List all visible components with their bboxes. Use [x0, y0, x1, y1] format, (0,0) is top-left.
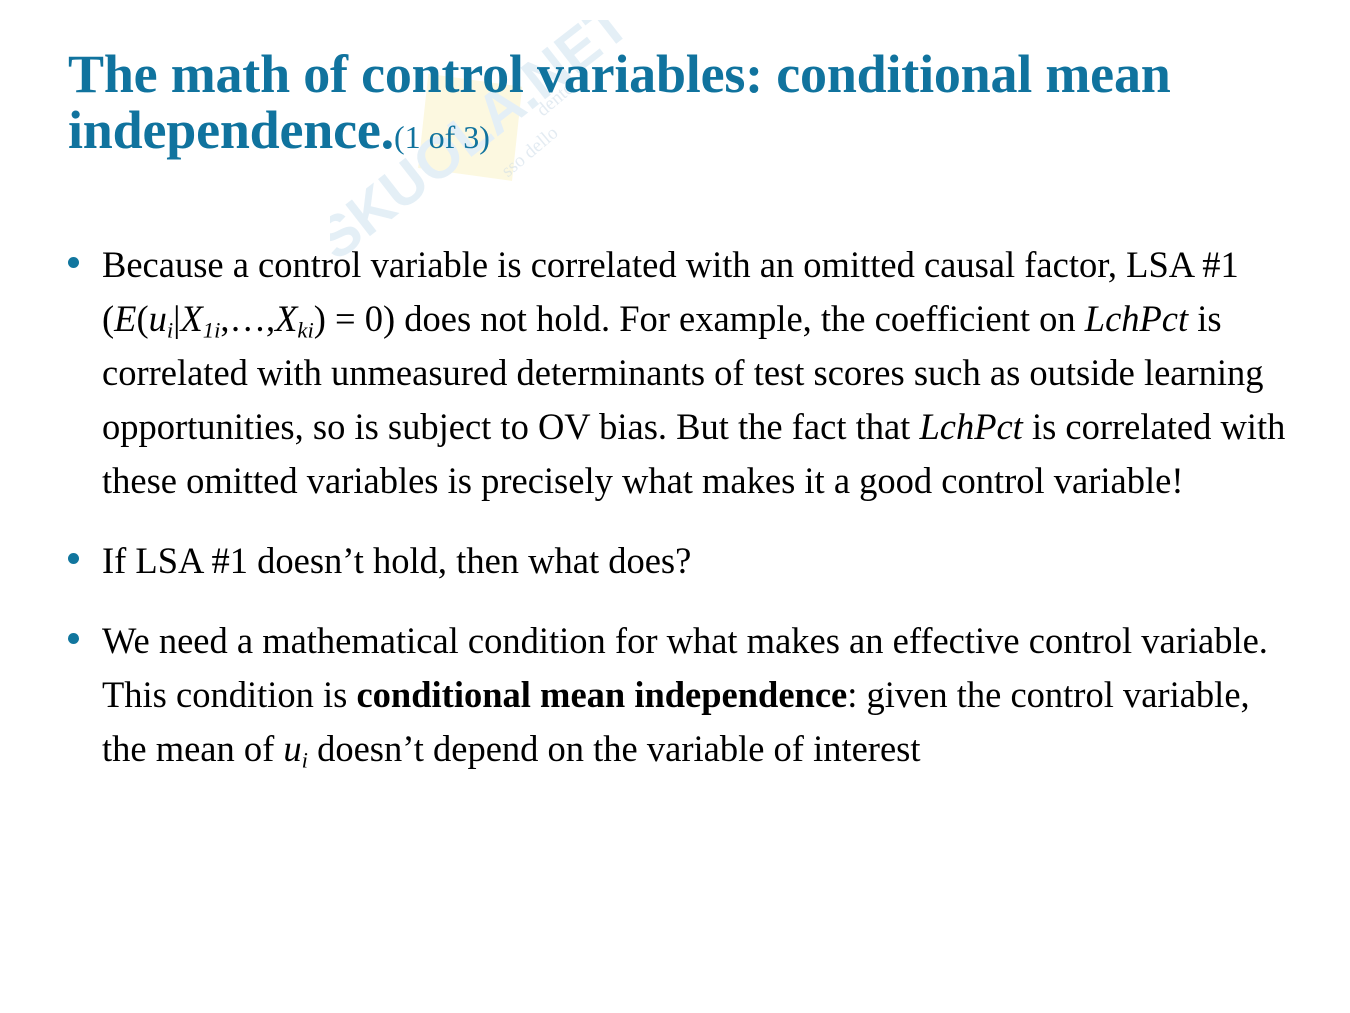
run-text: If LSA #1 doesn’t hold, then what does?	[102, 540, 691, 581]
run-text: ) = 0) does not hold. For example, the c…	[314, 298, 1085, 339]
bullet-dot-icon	[62, 614, 102, 644]
page-title: The math of control variables: condition…	[68, 46, 1278, 158]
list-item: We need a mathematical condition for wha…	[62, 614, 1287, 776]
term-conditional-mean-independence: conditional mean independence	[356, 674, 847, 715]
math-var-xk: X	[275, 298, 297, 339]
term-lchpct-2: LchPct	[919, 406, 1022, 447]
math-sub-ki: ki	[297, 317, 313, 342]
bullet-1-text: Because a control variable is correlated…	[102, 238, 1287, 508]
math-var-u: u	[149, 298, 167, 339]
math-expectation-E: E	[114, 298, 136, 339]
math-sub-1i: 1i	[203, 317, 221, 342]
run-text: ,…,	[220, 298, 275, 339]
bullet-list: Because a control variable is correlated…	[62, 238, 1287, 776]
slide-counter: (1 of 3)	[394, 119, 490, 155]
run-text: (	[136, 298, 148, 339]
page-title-text: The math of control variables: condition…	[68, 44, 1171, 160]
math-var-u-2: u	[283, 728, 301, 769]
bullet-3-text: We need a mathematical condition for wha…	[102, 614, 1287, 776]
run-text: doesn’t depend on the variable of intere…	[308, 728, 921, 769]
bullet-dot-icon	[62, 534, 102, 564]
bullet-2-text: If LSA #1 doesn’t hold, then what does?	[102, 534, 1287, 588]
term-lchpct-1: LchPct	[1085, 298, 1188, 339]
title-block: The math of control variables: condition…	[68, 46, 1278, 158]
math-var-x1: X	[180, 298, 202, 339]
bullet-dot-icon	[62, 238, 102, 268]
list-item: Because a control variable is correlated…	[62, 238, 1287, 508]
slide-canvas: The math of control variables: condition…	[0, 0, 1350, 1013]
list-item: If LSA #1 doesn’t hold, then what does?	[62, 534, 1287, 588]
